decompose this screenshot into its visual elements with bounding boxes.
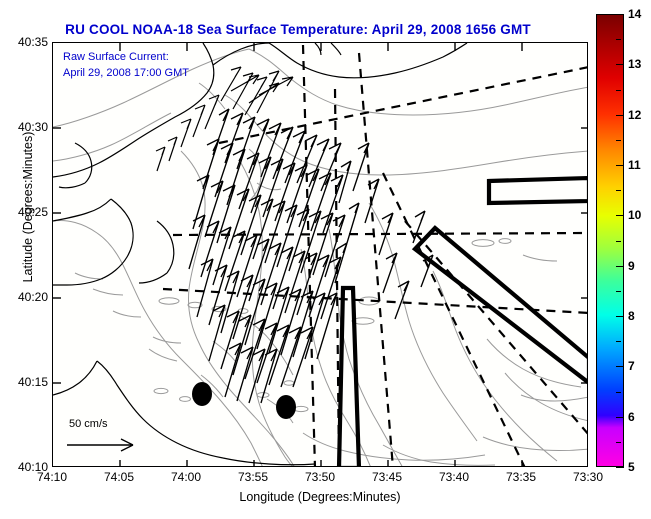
legend-line-1: Raw Surface Current: bbox=[63, 49, 189, 65]
x-axis-label: Longitude (Degrees:Minutes) bbox=[52, 490, 588, 504]
ytick-label: 40:35 bbox=[18, 35, 48, 49]
xtick-label: 73:55 bbox=[238, 470, 268, 484]
map-canvas: Raw Surface Current: April 29, 2008 17:0… bbox=[53, 43, 587, 466]
colorbar-minor-tick bbox=[616, 341, 621, 342]
colorbar-label: 6 bbox=[628, 410, 635, 424]
colorbar-tick bbox=[616, 64, 624, 65]
legend-line-2: April 29, 2008 17:00 GMT bbox=[63, 65, 189, 81]
xtick-label: 73:35 bbox=[506, 470, 536, 484]
sst-map-figure: RU COOL NOAA-18 Sea Surface Temperature:… bbox=[0, 0, 651, 519]
station-marker bbox=[276, 395, 296, 419]
colorbar-tick bbox=[616, 215, 624, 216]
colorbar-tick bbox=[616, 417, 624, 418]
xtick-label: 73:40 bbox=[439, 470, 469, 484]
colorbar-label: 11 bbox=[628, 158, 641, 172]
xtick-label: 73:45 bbox=[372, 470, 402, 484]
colorbar-tick bbox=[616, 165, 624, 166]
xtick-label: 73:50 bbox=[305, 470, 335, 484]
y-axis-label: Latitude (Degrees:Minutes) bbox=[21, 97, 35, 317]
colorbar-tick bbox=[616, 366, 624, 367]
colorbar-tick bbox=[616, 467, 624, 468]
colorbar-label: 12 bbox=[628, 108, 641, 122]
colorbar-label: 7 bbox=[628, 359, 635, 373]
scale-bar-label: 50 cm/s bbox=[69, 418, 108, 430]
ytick-label: 40:15 bbox=[18, 375, 48, 389]
colorbar-tick bbox=[616, 14, 624, 15]
colorbar-minor-tick bbox=[616, 190, 621, 191]
colorbar-label: 14 bbox=[628, 7, 641, 21]
figure-title: RU COOL NOAA-18 Sea Surface Temperature:… bbox=[0, 22, 596, 37]
velocity-scale-bar: 50 cm/s bbox=[61, 418, 181, 452]
map-graphics bbox=[53, 43, 587, 466]
ytick-label: 40:10 bbox=[18, 460, 48, 474]
colorbar-label: 13 bbox=[628, 57, 641, 71]
colorbar-label: 9 bbox=[628, 259, 635, 273]
xtick-label: 74:05 bbox=[104, 470, 134, 484]
colorbar-tick bbox=[616, 266, 624, 267]
colorbar-minor-tick bbox=[616, 90, 621, 91]
colorbar-minor-tick bbox=[616, 291, 621, 292]
xtick-label: 74:00 bbox=[171, 470, 201, 484]
arrow-right-icon bbox=[67, 438, 143, 452]
map-plot-area: Raw Surface Current: April 29, 2008 17:0… bbox=[52, 42, 588, 467]
colorbar-label: 10 bbox=[628, 208, 641, 222]
colorbar-minor-tick bbox=[616, 392, 621, 393]
colorbar-label: 5 bbox=[628, 460, 635, 474]
colorbar-minor-tick bbox=[616, 39, 621, 40]
colorbar-tick bbox=[616, 316, 624, 317]
colorbar-minor-tick bbox=[616, 140, 621, 141]
xtick-label: 73:30 bbox=[573, 470, 603, 484]
station-marker bbox=[192, 382, 212, 406]
colorbar-minor-tick bbox=[616, 442, 621, 443]
colorbar-minor-tick bbox=[616, 241, 621, 242]
colorbar-tick bbox=[616, 115, 624, 116]
colorbar-label: 8 bbox=[628, 309, 635, 323]
raw-surface-current-legend: Raw Surface Current: April 29, 2008 17:0… bbox=[63, 49, 189, 81]
